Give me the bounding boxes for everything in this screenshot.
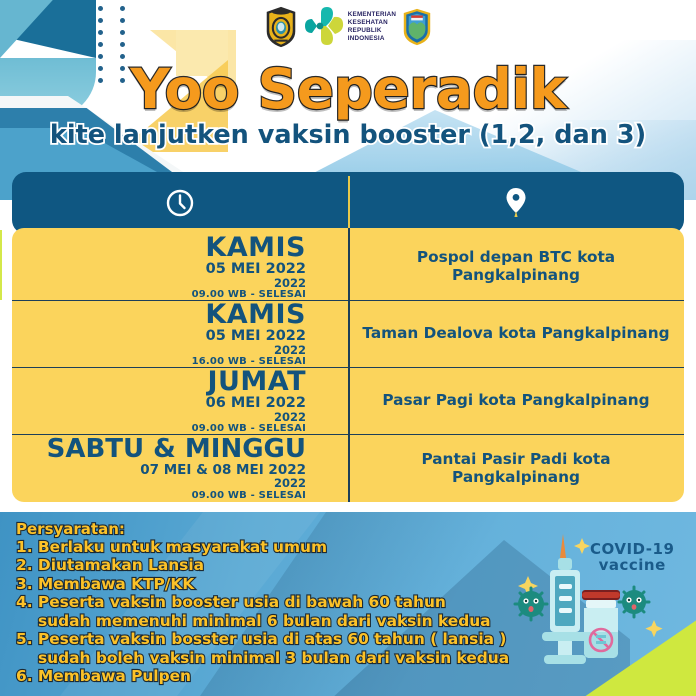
requirements-heading: Persyaratan: — [16, 520, 509, 538]
covid-vaccine-illustration: COVID-19 vaccine — [506, 528, 686, 680]
requirement-item: sudah boleh vaksin minimal 3 bulan dari … — [16, 649, 509, 667]
vaccine-label: COVID-19 vaccine — [590, 542, 674, 574]
schedule-time-cell: KAMIS05 MEI 2022202216.00 WB - SELESAI — [12, 301, 348, 367]
page-title: Yoo Seperadik — [0, 62, 696, 117]
schedule-year: 2022 — [274, 277, 306, 290]
virus-character-left — [515, 588, 547, 620]
location-pin-icon — [504, 187, 528, 219]
vaccine-vial-icon — [582, 590, 620, 658]
syringe-icon — [542, 534, 588, 664]
requirement-item: 1. Berlaku untuk masyarakat umum — [16, 538, 509, 556]
schedule-date: 06 MEI 2022 — [206, 396, 306, 411]
schedule-year: 2022 — [274, 477, 306, 490]
requirement-item: 5. Peserta vaksin bosster usia di atas 6… — [16, 630, 509, 648]
schedule-time-cell: JUMAT06 MEI 2022202209.00 WB - SELESAI — [12, 368, 348, 434]
schedule-location: Pospol depan BTC kota Pangkalpinang — [358, 249, 674, 284]
table-header — [12, 172, 684, 234]
schedule-time-cell: KAMIS05 MEI 2022202209.00 WB - SELESAI — [12, 234, 348, 300]
table-header-time — [12, 172, 348, 234]
schedule-day: KAMIS — [205, 234, 306, 261]
requirement-item: 3. Membawa KTP/KK — [16, 575, 509, 593]
requirements-list: Persyaratan:1. Berlaku untuk masyarakat … — [16, 520, 509, 686]
schedule-location: Pantai Pasir Padi kota Pangkalpinang — [358, 451, 674, 486]
schedule-date: 07 MEI & 08 MEI 2022 — [140, 463, 306, 477]
schedule-date: 05 MEI 2022 — [206, 262, 306, 277]
requirement-item: 4. Peserta vaksin booster usia di bawah … — [16, 593, 509, 611]
police-emblem-icon — [264, 6, 298, 48]
schedule-time: 09.00 WB - SELESAI — [192, 423, 306, 434]
schedule-location-cell: Pasar Pagi kota Pangkalpinang — [348, 368, 684, 434]
kemenkes-logo: KEMENTERIAN KESEHATAN REPUBLIK INDONESIA — [304, 7, 396, 47]
kemenkes-mark-icon — [304, 7, 344, 47]
schedule-location: Pasar Pagi kota Pangkalpinang — [382, 392, 649, 410]
requirement-item: sudah memenuhi minimal 6 bulan dari vaks… — [16, 612, 509, 630]
schedule-day: KAMIS — [205, 301, 306, 328]
table-header-location — [348, 172, 684, 234]
table-row: SABTU & MINGGU07 MEI & 08 MEI 2022202209… — [12, 435, 684, 502]
kemenkes-text: KEMENTERIAN KESEHATAN REPUBLIK INDONESIA — [348, 11, 396, 43]
schedule-day: JUMAT — [207, 368, 306, 395]
page-subtitle: kite lanjutken vaksin booster (1,2, dan … — [0, 123, 696, 149]
schedule-location-cell: Pantai Pasir Padi kota Pangkalpinang — [348, 435, 684, 502]
schedule-year: 2022 — [274, 344, 306, 357]
schedule-date: 05 MEI 2022 — [206, 329, 306, 344]
column-divider — [348, 228, 350, 502]
schedule-year: 2022 — [274, 411, 306, 424]
green-accent-strip — [0, 230, 2, 300]
schedule-location-cell: Taman Dealova kota Pangkalpinang — [348, 301, 684, 367]
schedule-location: Taman Dealova kota Pangkalpinang — [362, 325, 669, 343]
schedule-table: KAMIS05 MEI 2022202209.00 WB - SELESAIPo… — [12, 172, 684, 514]
schedule-time-cell: SABTU & MINGGU07 MEI & 08 MEI 2022202209… — [12, 435, 348, 502]
region-emblem-icon — [402, 8, 432, 46]
logo-row: KEMENTERIAN KESEHATAN REPUBLIK INDONESIA — [0, 6, 696, 48]
poster-title-block: Yoo Seperadik kite lanjutken vaksin boos… — [0, 62, 696, 149]
header-column-divider — [348, 176, 350, 230]
clock-icon — [165, 188, 195, 218]
table-body: KAMIS05 MEI 2022202209.00 WB - SELESAIPo… — [12, 228, 684, 502]
vaccine-label-line2: vaccine — [590, 558, 674, 574]
virus-character-right — [619, 587, 649, 617]
schedule-location-cell: Pospol depan BTC kota Pangkalpinang — [348, 234, 684, 300]
requirement-item: 6. Membawa Pulpen — [16, 667, 509, 685]
schedule-time: 09.00 WB - SELESAI — [192, 490, 306, 501]
vaccination-schedule-poster: KEMENTERIAN KESEHATAN REPUBLIK INDONESIA… — [0, 0, 696, 696]
requirement-item: 2. Diutamakan Lansia — [16, 556, 509, 574]
schedule-day: SABTU & MINGGU — [47, 436, 306, 462]
